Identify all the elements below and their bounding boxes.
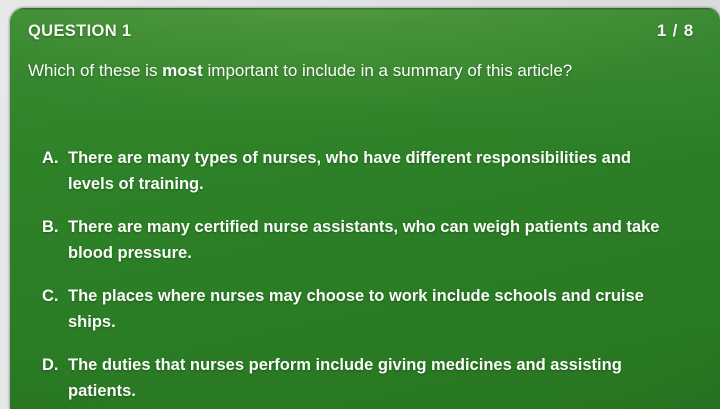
quiz-question-card: QUESTION 1 1 / 8 Which of these is most … xyxy=(10,8,720,409)
card-top-edge-highlight xyxy=(10,8,720,10)
question-prompt-part-2: important to include in a summary of thi… xyxy=(203,61,572,80)
quiz-header: QUESTION 1 1 / 8 xyxy=(28,21,694,41)
question-progress-counter: 1 / 8 xyxy=(657,21,694,41)
answer-option-letter: A. xyxy=(42,145,68,171)
answer-option-d[interactable]: D. The duties that nurses perform includ… xyxy=(42,352,672,404)
answer-option-text: There are many types of nurses, who have… xyxy=(68,145,672,197)
answer-option-letter: D. xyxy=(42,352,68,378)
answer-options-list: A. There are many types of nurses, who h… xyxy=(42,145,672,404)
question-prompt-emphasis: most xyxy=(162,61,203,80)
question-prompt-part-1: Which of these is xyxy=(28,61,162,80)
answer-option-a[interactable]: A. There are many types of nurses, who h… xyxy=(42,145,672,197)
question-number-label: QUESTION 1 xyxy=(28,22,131,41)
answer-option-text: The duties that nurses perform include g… xyxy=(68,352,672,404)
answer-option-text: There are many certified nurse assistant… xyxy=(68,214,672,266)
answer-option-b[interactable]: B. There are many certified nurse assist… xyxy=(42,214,672,266)
question-prompt-text: Which of these is most important to incl… xyxy=(28,58,668,84)
answer-option-letter: C. xyxy=(42,283,68,309)
answer-option-c[interactable]: C. The places where nurses may choose to… xyxy=(42,283,672,335)
answer-option-text: The places where nurses may choose to wo… xyxy=(68,283,672,335)
answer-option-letter: B. xyxy=(42,214,68,240)
screen-photo-frame: QUESTION 1 1 / 8 Which of these is most … xyxy=(0,0,720,409)
